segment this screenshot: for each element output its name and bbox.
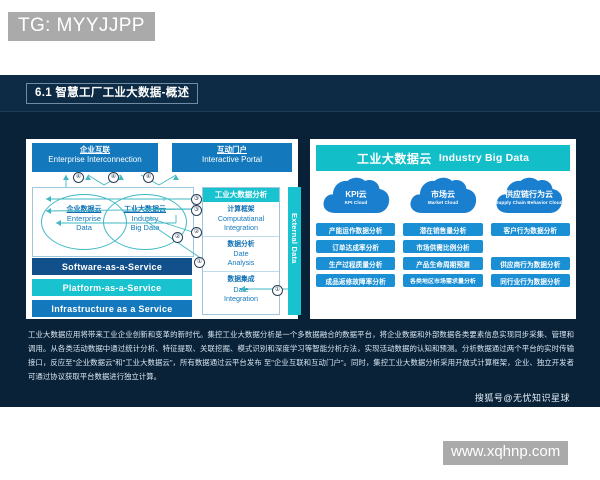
bigdata-banner-en: Industry Big Data <box>439 152 529 164</box>
flow-marker-2a: ② <box>191 227 202 238</box>
tag-item-empty <box>491 240 570 253</box>
cloud-ellipse-container: 企业数据云 Enterprise Data 工业大数据云 Industry Bi… <box>32 187 194 257</box>
tag-item[interactable]: 产能运作数据分析 <box>316 223 395 236</box>
analysis-section-data-integration: 数据集成 Date Integration <box>203 271 279 306</box>
market-cloud-label: 市场云 Market Cloud <box>408 190 478 206</box>
tag-column-supply-chain: 客户行为数据分析 供应商行为数据分析 同行业行为数据分析 <box>491 223 570 287</box>
page-title: 6.1 智慧工厂工业大数据-概述 <box>26 83 198 104</box>
external-data-label: External Data <box>290 213 299 264</box>
flow-marker-4a: ④ <box>73 172 84 183</box>
analysis-dataintegration-en1: Date <box>205 285 277 294</box>
kpi-cloud-label-en: KPI Cloud <box>321 200 391 206</box>
tag-item[interactable]: 市场供需比例分析 <box>403 240 482 253</box>
industry-bigdata-cloud-card: 工业大数据云 Industry Big Data KPI云 KPI Cloud … <box>310 139 576 319</box>
slide-panel: 6.1 智慧工厂工业大数据-概述 企业互联 Enterprise Interco… <box>0 75 600 407</box>
kpi-cloud: KPI云 KPI Cloud <box>321 175 391 217</box>
source-credit: 搜狐号@无忧知识星球 <box>475 391 570 404</box>
industry-bigdata-label-en1: Industry <box>104 214 186 223</box>
analysis-dataintegration-cn: 数据集成 <box>205 275 277 284</box>
supply-chain-behavior-cloud: 供应链行为云 Supply Chain Behavior Cloud <box>494 175 564 217</box>
tag-column-kpi: 产能运作数据分析 订单达成率分析 生产过程质量分析 成品返修故障率分析 <box>316 223 395 287</box>
tag-item[interactable]: 订单达成率分析 <box>316 240 395 253</box>
supply-chain-cloud-label-cn: 供应链行为云 <box>494 190 564 200</box>
analysis-dataanalysis-en2: Analysis <box>205 258 277 267</box>
tag-item[interactable]: 供应商行为数据分析 <box>491 257 570 270</box>
interactive-portal-label-cn: 互动门户 <box>172 145 292 155</box>
tag-item[interactable]: 各类地区市场需求量分析 <box>403 274 482 287</box>
analysis-tag-columns: 产能运作数据分析 订单达成率分析 生产过程质量分析 成品返修故障率分析 潜在销售… <box>316 223 570 287</box>
tag-item[interactable]: 产品生命周期预测 <box>403 257 482 270</box>
external-data-bar: External Data <box>288 187 301 315</box>
tag-column-market: 潜在销售量分析 市场供需比例分析 产品生命周期预测 各类地区市场需求量分析 <box>403 223 482 287</box>
market-cloud: 市场云 Market Cloud <box>408 175 478 217</box>
analysis-computational-cn: 计算框架 <box>205 205 277 214</box>
analysis-dataanalysis-en1: Date <box>205 249 277 258</box>
analysis-dataanalysis-cn: 数据分析 <box>205 240 277 249</box>
layer-infrastructure-as-a-service: Infrastructure as a Service <box>32 300 192 317</box>
top-watermark: TG: MYYJJPP <box>8 12 155 41</box>
analysis-section-data-analysis: 数据分析 Date Analysis <box>203 236 279 271</box>
market-cloud-label-cn: 市场云 <box>408 190 478 200</box>
flow-marker-3a: ③ <box>191 194 202 205</box>
layer-platform-as-a-service: Platform-as-a-Service <box>32 279 192 296</box>
site-watermark: www.xqhnp.com <box>443 441 568 465</box>
flow-marker-4b: ④ <box>108 172 119 183</box>
flow-marker-1a: ① <box>194 257 205 268</box>
interactive-portal-box: 互动门户 Interactive Portal <box>172 143 292 172</box>
tag-item[interactable]: 同行业行为数据分析 <box>491 274 570 287</box>
bigdata-analysis-panel: 工业大数据分析 计算框架 Computatianal Integration 数… <box>202 187 280 315</box>
layer-software-as-a-service: Software-as-a-Service <box>32 258 192 275</box>
bigdata-analysis-header: 工业大数据分析 <box>203 188 279 202</box>
tag-item[interactable]: 生产过程质量分析 <box>316 257 395 270</box>
kpi-cloud-label-cn: KPI云 <box>321 190 391 200</box>
bigdata-banner-cn: 工业大数据云 <box>357 150 432 167</box>
supply-chain-cloud-label: 供应链行为云 Supply Chain Behavior Cloud <box>494 190 564 206</box>
bigdata-banner: 工业大数据云 Industry Big Data <box>316 145 570 171</box>
flow-marker-3b: ③ <box>191 205 202 216</box>
architecture-diagram-card: 企业互联 Enterprise Interconnection 互动门户 Int… <box>26 139 298 319</box>
analysis-section-computational: 计算框架 Computatianal Integration <box>203 202 279 236</box>
enterprise-interconnection-label-en: Enterprise Interconnection <box>32 155 158 166</box>
flow-marker-1b: ① <box>272 285 283 296</box>
supply-chain-cloud-label-en: Supply Chain Behavior Cloud <box>494 200 564 206</box>
analysis-computational-en2: Integration <box>205 223 277 232</box>
kpi-cloud-label: KPI云 KPI Cloud <box>321 190 391 206</box>
flow-marker-4c: ④ <box>143 172 154 183</box>
tag-item[interactable]: 潜在销售量分析 <box>403 223 482 236</box>
industry-bigdata-label-en2: Big Data <box>104 223 186 232</box>
enterprise-interconnection-label-cn: 企业互联 <box>32 145 158 155</box>
flow-marker-2b: ② <box>172 232 183 243</box>
analysis-computational-en1: Computatianal <box>205 214 277 223</box>
enterprise-interconnection-box: 企业互联 Enterprise Interconnection <box>32 143 158 172</box>
analysis-dataintegration-en2: Integration <box>205 294 277 303</box>
description-paragraph: 工业大数据应用将带来工业企业创新和变革的新时代。集控工业大数据分析是一个多数据融… <box>28 328 574 384</box>
tag-item[interactable]: 成品返修故障率分析 <box>316 274 395 287</box>
tag-item[interactable]: 客户行为数据分析 <box>491 223 570 236</box>
industry-bigdata-label-cn: 工业大数据云 <box>104 205 186 214</box>
cloud-row: KPI云 KPI Cloud 市场云 Market Cloud 供应链行为云 <box>316 175 570 219</box>
market-cloud-label-en: Market Cloud <box>408 200 478 206</box>
interactive-portal-label-en: Interactive Portal <box>172 155 292 166</box>
